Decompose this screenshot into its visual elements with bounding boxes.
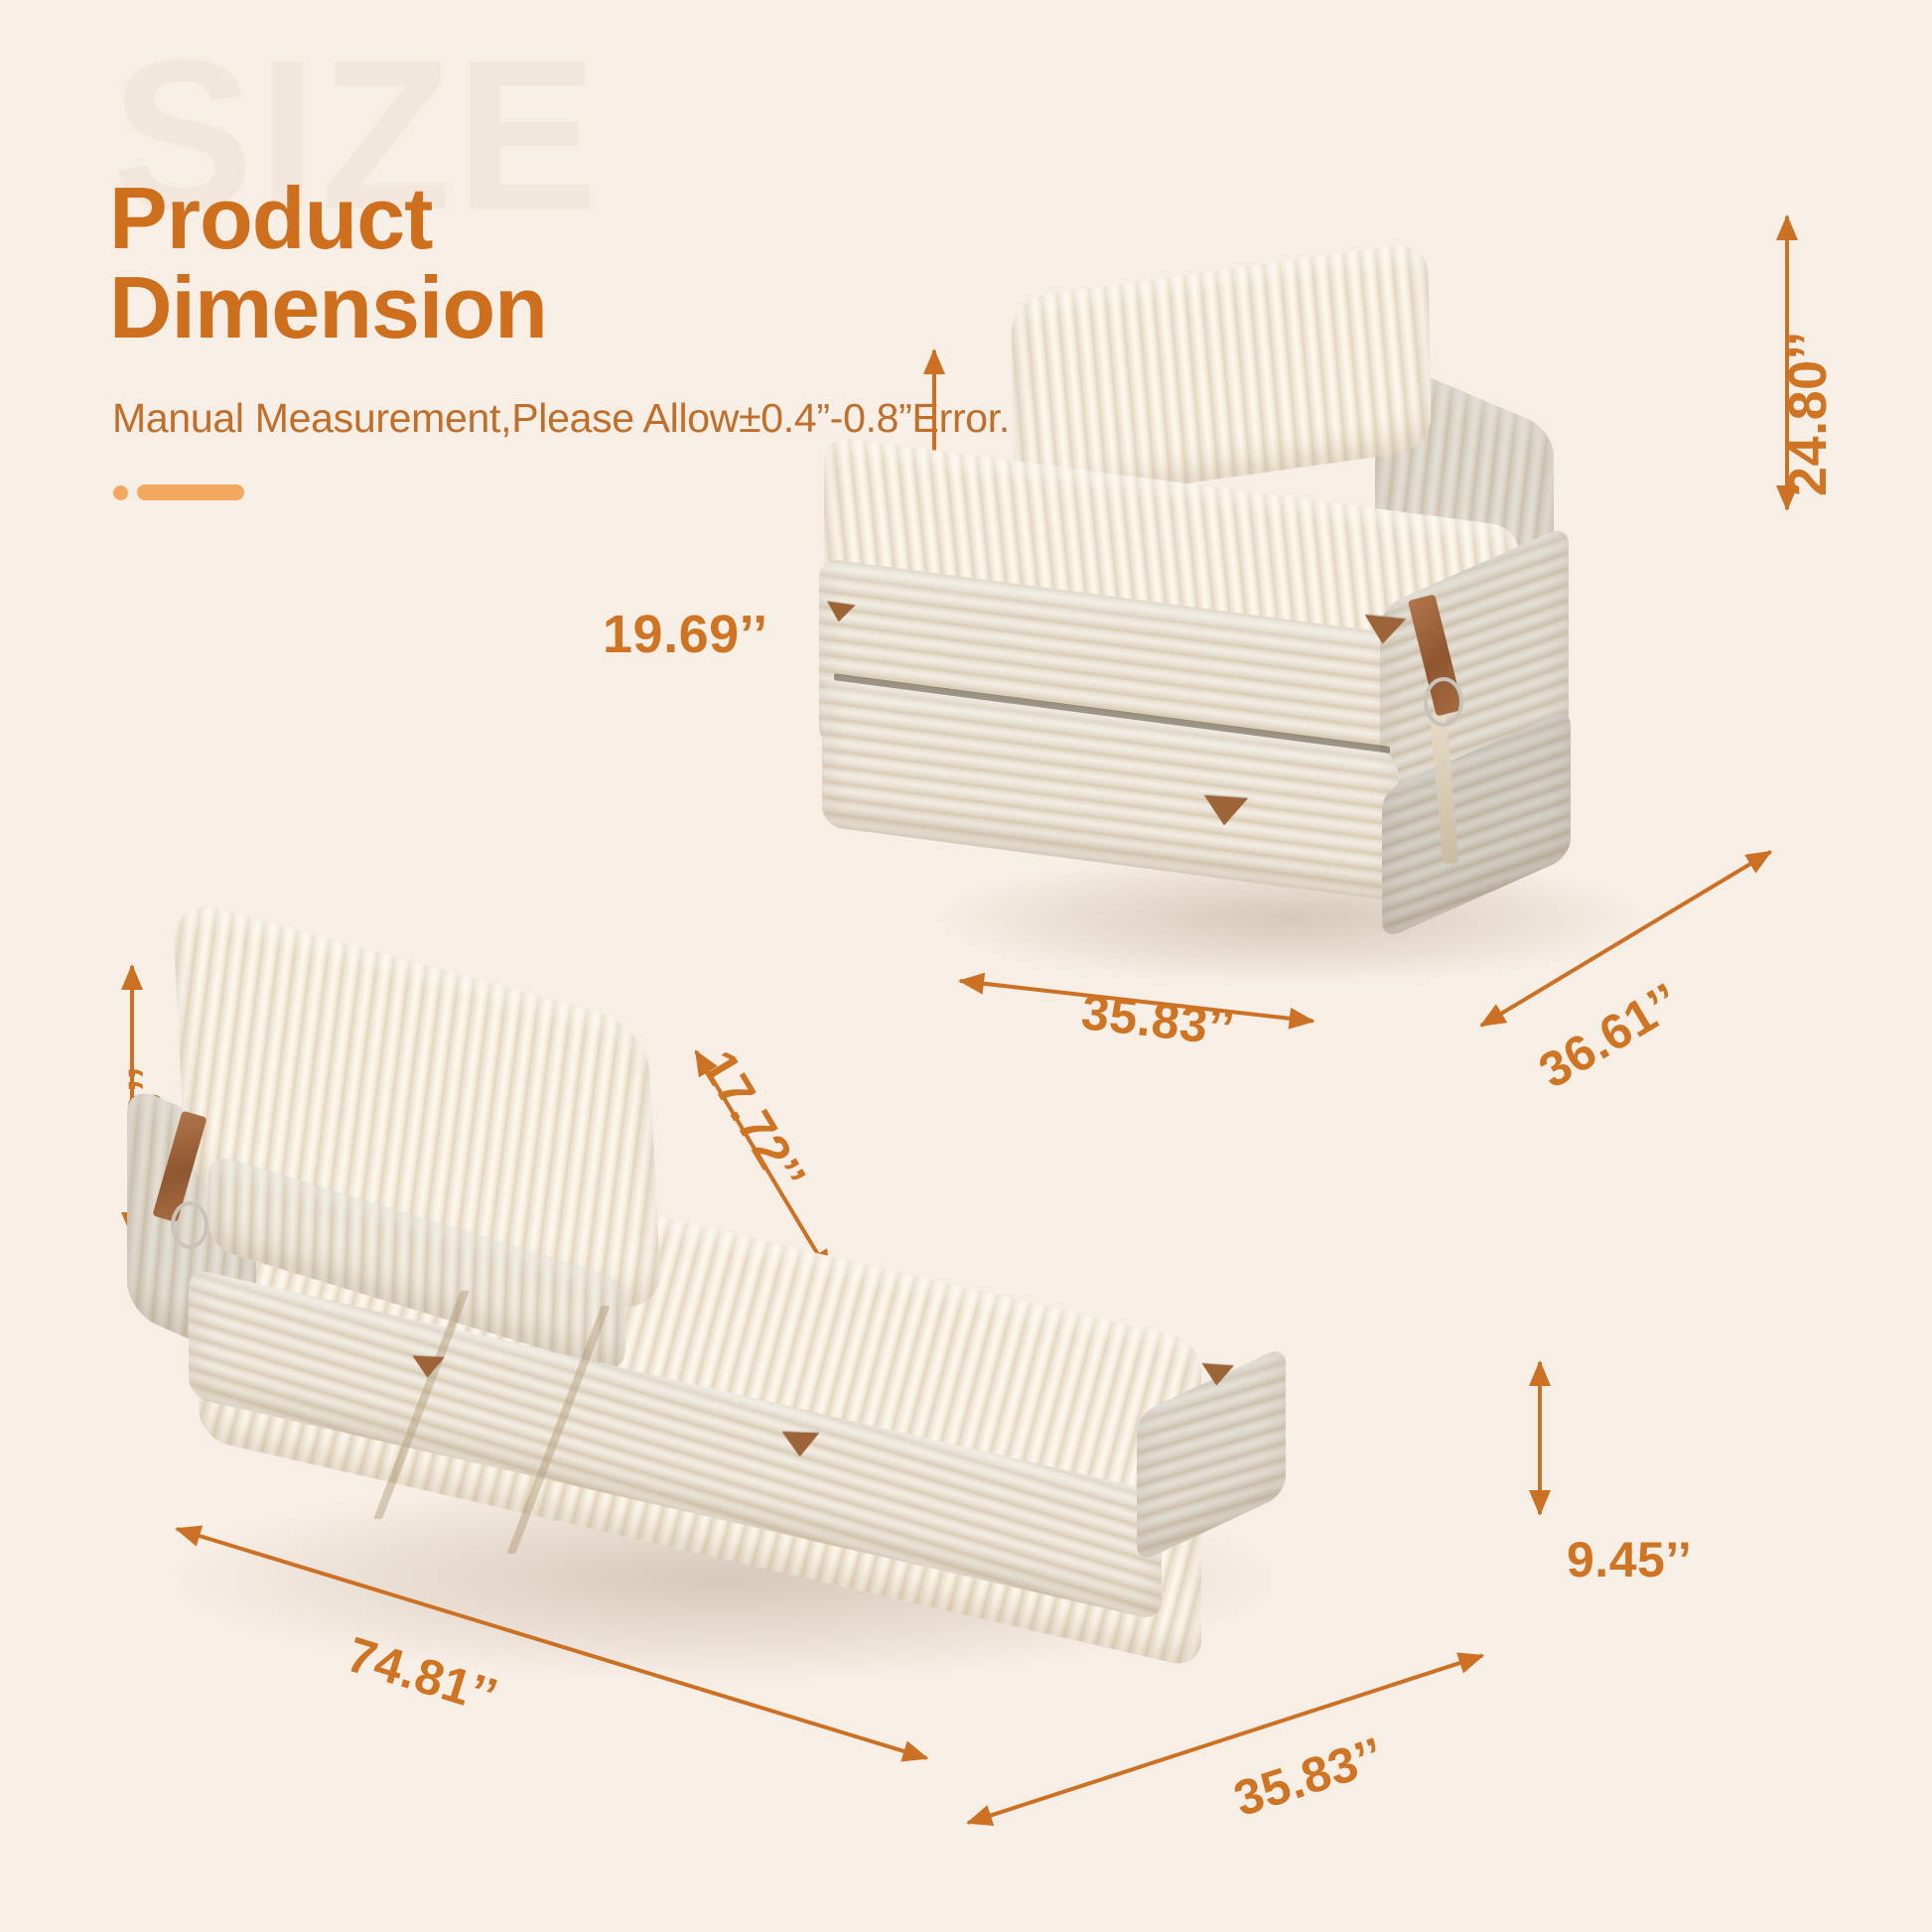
chair-corner-tab-left	[825, 602, 856, 623]
arrow-head-end-icon	[121, 964, 143, 990]
arrow-head-end-icon	[1776, 214, 1798, 240]
infographic-canvas: SIZE Product Dimension Manual Measuremen…	[0, 0, 1932, 1932]
arrow-head-end-icon	[1456, 1645, 1488, 1674]
measurement-disclaimer: Manual Measurement,Please Allow±0.4”-0.8…	[112, 395, 1010, 442]
arrow-head-end-icon	[1529, 1360, 1551, 1386]
bed-corner-tab-right	[1200, 1363, 1234, 1386]
page-title-line-2: Dimension	[109, 263, 547, 352]
dimension-label-total-height: 24.80’’	[1777, 331, 1839, 496]
decorative-divider	[113, 484, 244, 500]
arrow-head-start-icon	[963, 1805, 995, 1834]
folded-chair-illustration	[953, 298, 1708, 993]
chair-corner-tab-lower	[1202, 795, 1248, 827]
chair-corner-tab-upper	[1362, 615, 1406, 645]
arrow-head-start-icon	[1474, 1004, 1508, 1035]
dimension-label-chair-width: 35.83’’	[1078, 983, 1237, 1057]
arrow-head-start-icon	[1529, 1490, 1551, 1516]
bed-corner-tab-mid	[781, 1432, 819, 1457]
divider-bar-icon	[137, 484, 244, 500]
arrow-head-end-icon	[923, 348, 945, 374]
page-title-line-1: Product	[109, 169, 432, 267]
divider-dot-icon	[113, 485, 128, 500]
page-title: Product Dimension	[109, 174, 547, 352]
arrow-head-start-icon	[957, 970, 985, 995]
arrow-head-start-icon	[172, 1518, 203, 1547]
chair-strap-ring-icon	[1424, 677, 1463, 727]
bed-corner-tab-backrest	[411, 1356, 444, 1379]
chair-backrest-cushion	[1011, 241, 1432, 507]
bed-strap-ring-icon	[171, 1201, 208, 1249]
dimension-label-seat-height: 19.69’’	[603, 604, 768, 665]
arrow-head-end-icon	[1744, 841, 1778, 873]
dimension-label-bed-thickness: 9.45’’	[1567, 1531, 1692, 1588]
unfolded-bed-illustration	[149, 1052, 1320, 1767]
arrow-bed-thickness	[1527, 1362, 1553, 1514]
arrow-head-end-icon	[1289, 1008, 1316, 1033]
